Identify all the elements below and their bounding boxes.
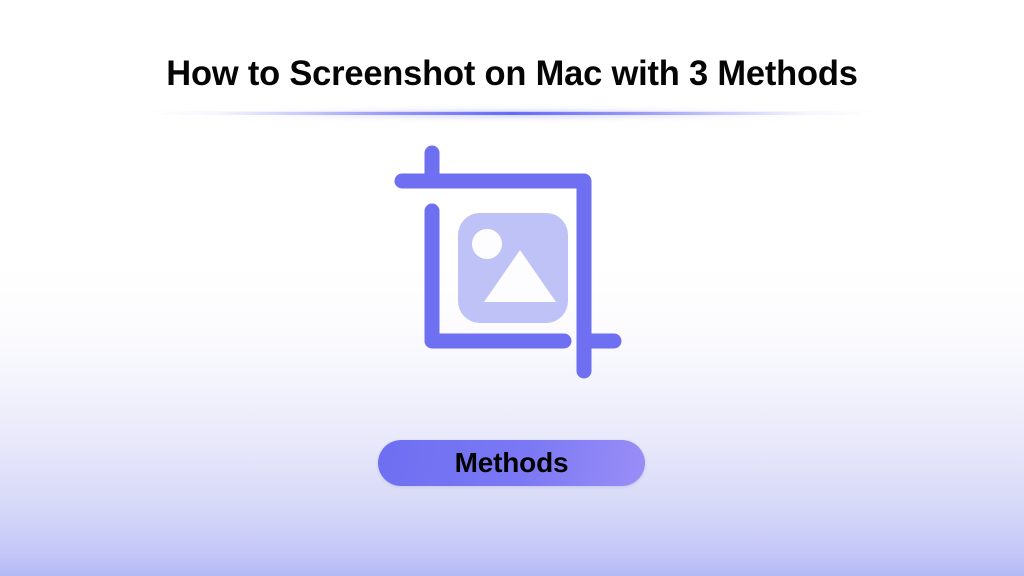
sun-circle bbox=[472, 229, 502, 259]
page-title: How to Screenshot on Mac with 3 Methods bbox=[166, 52, 857, 96]
divider-core bbox=[153, 112, 871, 115]
title-container: How to Screenshot on Mac with 3 Methods bbox=[0, 52, 1024, 96]
divider-glow bbox=[132, 106, 892, 122]
divider-hairline bbox=[112, 111, 912, 112]
screenshot-crop-image-icon bbox=[386, 145, 638, 385]
methods-button[interactable]: Methods bbox=[378, 440, 645, 486]
slide-canvas: How to Screenshot on Mac with 3 Methods bbox=[0, 0, 1024, 576]
gradient-divider bbox=[0, 104, 1024, 124]
